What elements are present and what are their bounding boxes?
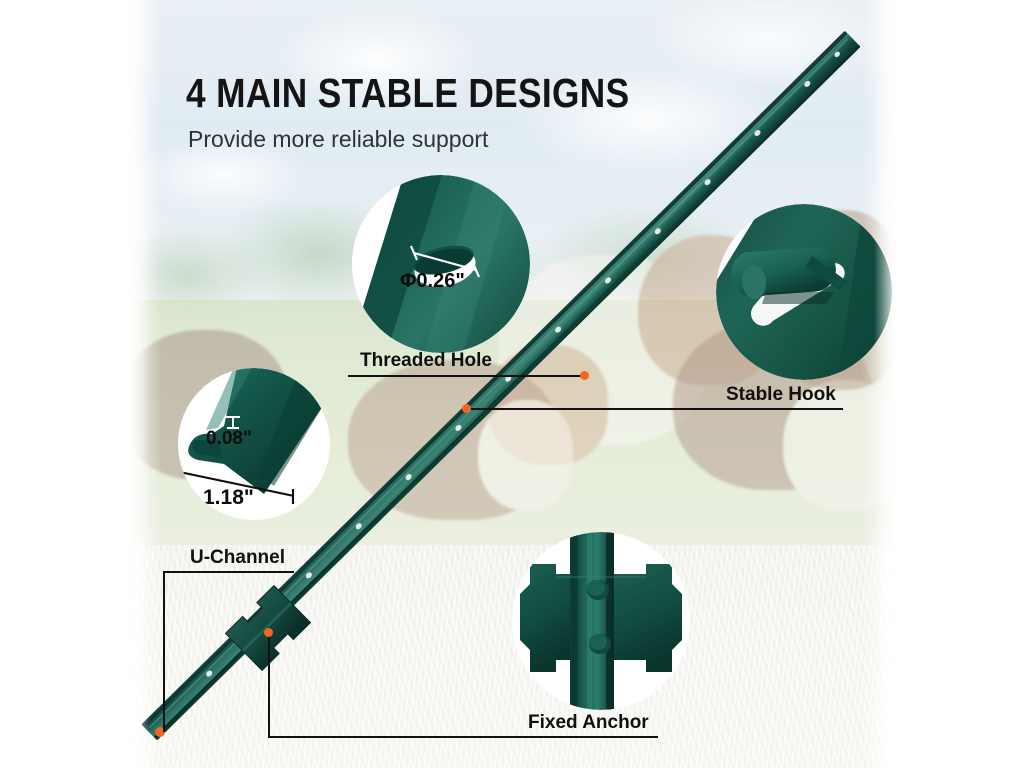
threaded-hole-closeup xyxy=(352,175,530,353)
callout-u-channel[interactable]: 0.08" 1.18" xyxy=(178,368,330,520)
leader-line-fixed-anchor-vertical xyxy=(268,632,270,738)
callout-label-stable-hook: Stable Hook xyxy=(726,384,836,406)
leader-line-threaded-hole xyxy=(510,375,584,377)
leader-line-u-channel-vertical xyxy=(163,571,165,732)
channel-width-text: 1.18" xyxy=(203,486,254,510)
hole-diameter-text: Φ0.26" xyxy=(400,270,465,293)
callout-underline-fixed-anchor xyxy=(500,736,658,738)
fixed-anchor-closeup xyxy=(512,532,690,710)
callout-fixed-anchor[interactable] xyxy=(512,532,690,710)
stable-hook-closeup xyxy=(716,204,892,380)
page-title: 4 MAIN STABLE DESIGNS xyxy=(186,70,629,117)
anchor-wing-right xyxy=(614,564,682,672)
anchor-dot-fixed-anchor xyxy=(264,628,273,637)
callout-underline-u-channel xyxy=(163,571,294,573)
callout-underline-stable-hook xyxy=(700,408,843,410)
infographic-canvas: 4 MAIN STABLE DESIGNS Provide more relia… xyxy=(0,0,1024,768)
channel-thickness-text: 0.08" xyxy=(206,428,252,450)
callout-label-fixed-anchor: Fixed Anchor xyxy=(528,712,649,734)
page-subtitle: Provide more reliable support xyxy=(188,126,488,153)
leader-line-stable-hook xyxy=(466,408,702,410)
callout-label-threaded-hole: Threaded Hole xyxy=(360,350,492,372)
anchor-dot-threaded-hole xyxy=(580,371,589,380)
anchor-dot-stable-hook xyxy=(462,404,471,413)
u-channel-closeup xyxy=(178,368,330,520)
leader-line-fixed-anchor-horizontal xyxy=(268,736,502,738)
callout-underline-threaded-hole xyxy=(348,375,510,377)
callout-threaded-hole[interactable]: Φ0.26" xyxy=(352,175,530,353)
callout-label-u-channel: U-Channel xyxy=(190,547,285,569)
callout-stable-hook[interactable] xyxy=(716,204,892,380)
